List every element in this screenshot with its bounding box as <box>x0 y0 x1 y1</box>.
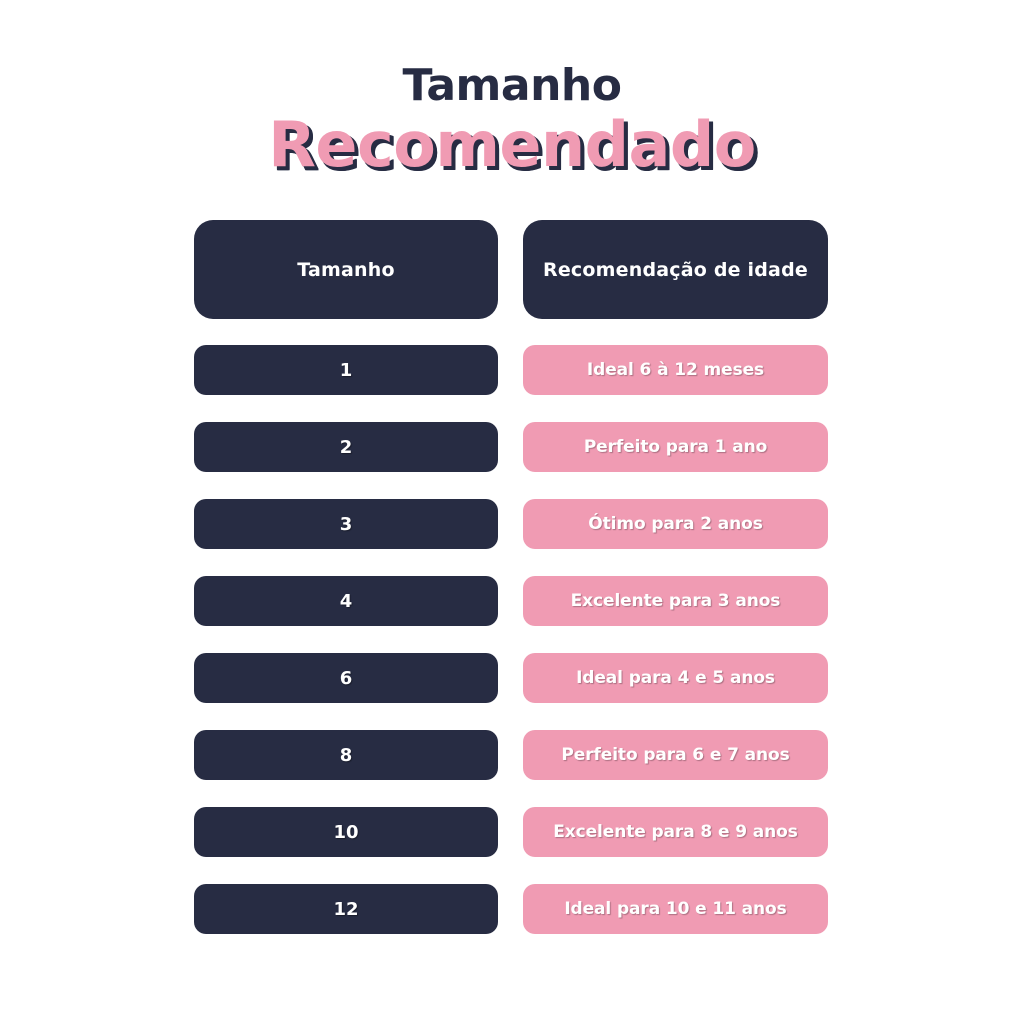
cell-recommendation: Excelente para 8 e 9 anos <box>523 807 828 857</box>
cell-size: 6 <box>194 653 498 703</box>
cell-recommendation: Ótimo para 2 anos <box>523 499 828 549</box>
table-row: 6 Ideal para 4 e 5 anos <box>194 653 828 703</box>
cell-size: 4 <box>194 576 498 626</box>
cell-recommendation: Excelente para 3 anos <box>523 576 828 626</box>
cell-recommendation: Ideal para 10 e 11 anos <box>523 884 828 934</box>
size-value: 10 <box>333 822 358 843</box>
header-label-size: Tamanho <box>297 259 394 281</box>
size-value: 2 <box>340 437 353 458</box>
size-value: 12 <box>333 899 358 920</box>
size-value: 1 <box>340 360 353 381</box>
recommendation-value: Perfeito para 1 ano <box>584 437 767 457</box>
recommendation-value: Ideal para 4 e 5 anos <box>576 668 775 688</box>
table-row: 10 Excelente para 8 e 9 anos <box>194 807 828 857</box>
header-cell-size: Tamanho <box>194 220 498 319</box>
table-row: 12 Ideal para 10 e 11 anos <box>194 884 828 934</box>
table-row: 3 Ótimo para 2 anos <box>194 499 828 549</box>
table-header-row: Tamanho Recomendação de idade <box>194 220 828 319</box>
title-line-recomendado: Recomendado <box>0 114 1024 176</box>
table-row: 8 Perfeito para 6 e 7 anos <box>194 730 828 780</box>
cell-recommendation: Perfeito para 1 ano <box>523 422 828 472</box>
header-label-recommendation: Recomendação de idade <box>543 259 808 281</box>
table-row: 4 Excelente para 3 anos <box>194 576 828 626</box>
cell-size: 2 <box>194 422 498 472</box>
size-value: 8 <box>340 745 353 766</box>
recommendation-value: Perfeito para 6 e 7 anos <box>561 745 789 765</box>
table-row: 1 Ideal 6 à 12 meses <box>194 345 828 395</box>
cell-size: 3 <box>194 499 498 549</box>
recommendation-value: Excelente para 8 e 9 anos <box>553 822 797 842</box>
size-chart-poster: Tamanho Recomendado Tamanho Recomendação… <box>0 0 1024 1024</box>
cell-recommendation: Ideal 6 à 12 meses <box>523 345 828 395</box>
cell-size: 1 <box>194 345 498 395</box>
cell-recommendation: Perfeito para 6 e 7 anos <box>523 730 828 780</box>
table-row: 2 Perfeito para 1 ano <box>194 422 828 472</box>
cell-size: 12 <box>194 884 498 934</box>
recommendation-value: Ótimo para 2 anos <box>588 514 763 534</box>
recommendation-value: Ideal 6 à 12 meses <box>587 360 764 380</box>
poster-title: Tamanho Recomendado <box>0 64 1024 176</box>
size-recommendation-table: Tamanho Recomendação de idade 1 Ideal 6 … <box>194 220 828 934</box>
cell-size: 10 <box>194 807 498 857</box>
header-cell-recommendation: Recomendação de idade <box>523 220 828 319</box>
cell-size: 8 <box>194 730 498 780</box>
recommendation-value: Excelente para 3 anos <box>571 591 781 611</box>
recommendation-value: Ideal para 10 e 11 anos <box>564 899 786 919</box>
title-line-tamanho: Tamanho <box>0 64 1024 108</box>
size-value: 4 <box>340 591 353 612</box>
size-value: 3 <box>340 514 353 535</box>
size-value: 6 <box>340 668 353 689</box>
cell-recommendation: Ideal para 4 e 5 anos <box>523 653 828 703</box>
